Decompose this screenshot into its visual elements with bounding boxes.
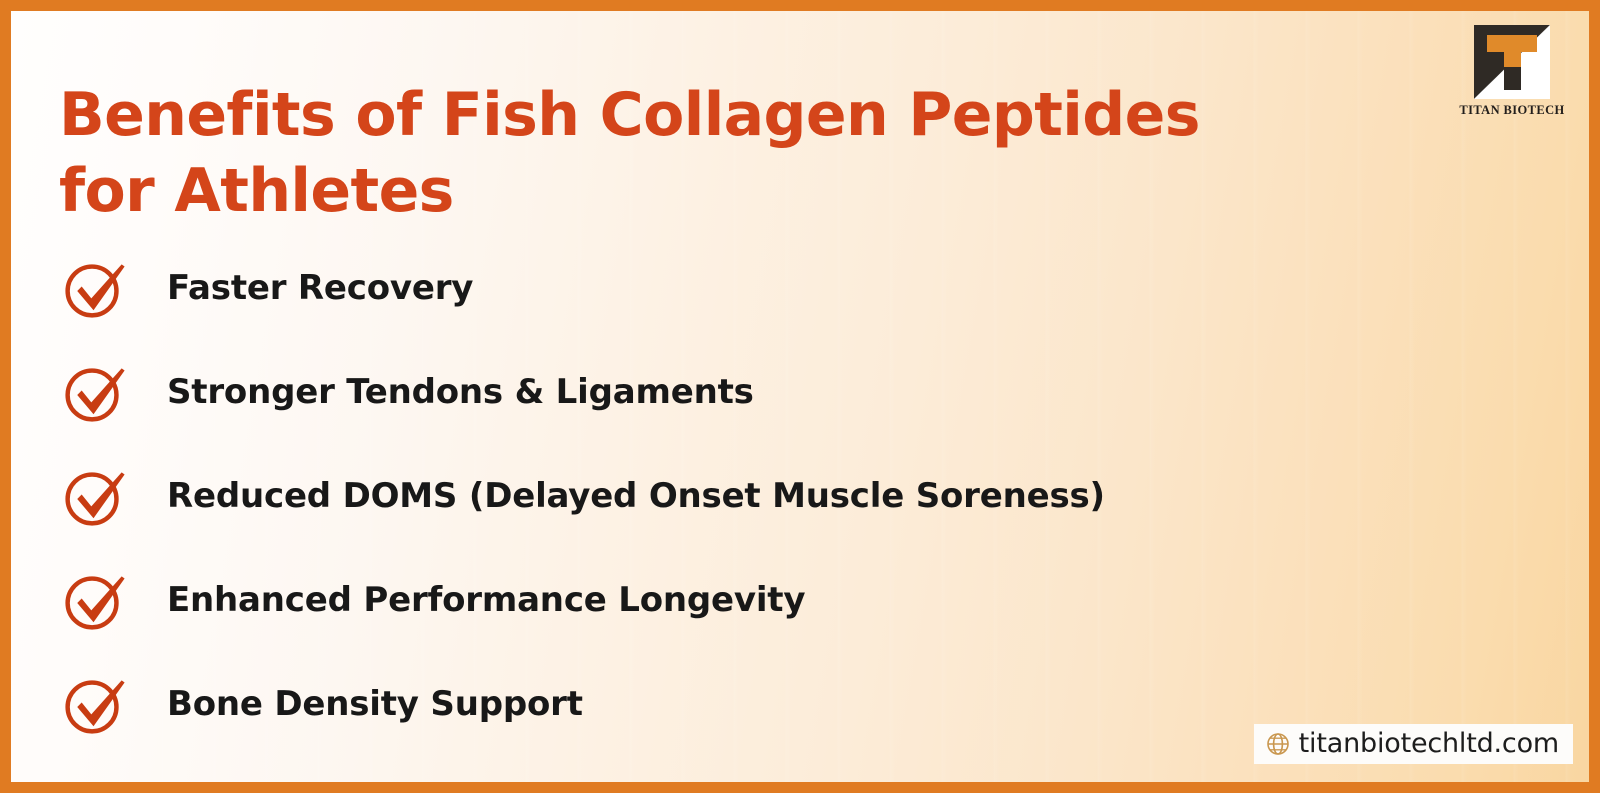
benefit-label: Faster Recovery: [167, 268, 473, 308]
benefit-label: Reduced DOMS (Delayed Onset Muscle Soren…: [167, 476, 1105, 516]
list-item: Faster Recovery: [49, 236, 1499, 340]
infographic-poster: Benefits of Fish Collagen Peptides for A…: [0, 0, 1600, 793]
check-circle-icon: [57, 251, 133, 325]
check-circle-icon: [57, 355, 133, 429]
logo-wordmark: TITAN BIOTECH: [1453, 103, 1571, 118]
website-chip[interactable]: titanbiotechltd.com: [1254, 724, 1573, 764]
check-circle-icon: [57, 459, 133, 533]
list-item: Reduced DOMS (Delayed Onset Muscle Soren…: [49, 444, 1499, 548]
benefit-label: Stronger Tendons & Ligaments: [167, 372, 754, 412]
benefits-list: Faster Recovery Stronger Tendons & Ligam…: [49, 236, 1499, 756]
logo-mark-icon: [1474, 25, 1550, 99]
check-circle-icon: [57, 563, 133, 637]
check-circle-icon: [57, 667, 133, 741]
brand-logo: TITAN BIOTECH: [1453, 25, 1571, 118]
list-item: Enhanced Performance Longevity: [49, 548, 1499, 652]
logo-letter-t-icon: [1474, 25, 1550, 99]
website-url[interactable]: titanbiotechltd.com: [1299, 730, 1559, 757]
benefit-label: Enhanced Performance Longevity: [167, 580, 805, 620]
page-title: Benefits of Fish Collagen Peptides for A…: [59, 77, 1429, 229]
globe-icon: [1266, 732, 1290, 756]
benefit-label: Bone Density Support: [167, 684, 583, 724]
list-item: Stronger Tendons & Ligaments: [49, 340, 1499, 444]
